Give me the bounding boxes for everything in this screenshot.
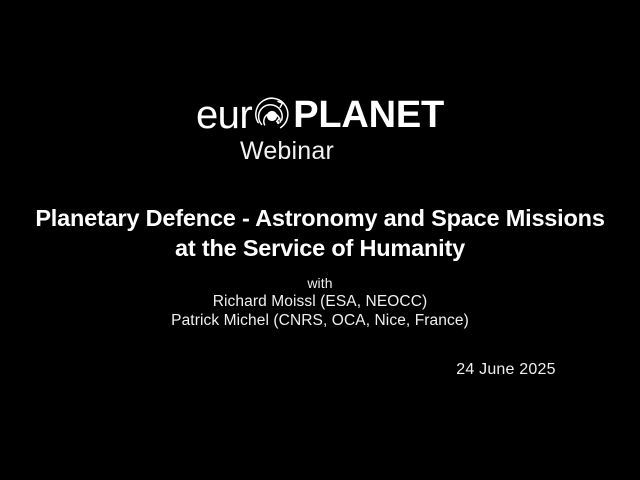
page-title-line-2: at the Service of Humanity (16, 233, 624, 263)
webinar-title-slide: eur (0, 0, 640, 480)
logo-subtitle-row: Webinar (0, 137, 640, 166)
page-title: Planetary Defence - Astronomy and Space … (0, 203, 640, 263)
presenter-name-1: Richard Moissl (ESA, NEOCC) (0, 292, 640, 311)
date-block: 24 June 2025 (0, 361, 640, 379)
europlanet-logo: eur (0, 96, 640, 166)
logo-webinar-text: Webinar (240, 137, 334, 165)
webinar-date: 24 June 2025 (456, 361, 555, 378)
logo-euro-text: eur (196, 95, 252, 135)
page-title-line-1: Planetary Defence - Astronomy and Space … (16, 203, 624, 233)
logo-wordmark: eur (196, 96, 444, 136)
presenters-intro-label: with (0, 274, 640, 292)
presenter-name-2: Patrick Michel (CNRS, OCA, Nice, France) (0, 311, 640, 330)
presenters: with Richard Moissl (ESA, NEOCC) Patrick… (0, 274, 640, 330)
europlanet-orbit-mark-icon (252, 96, 292, 136)
logo-planet-text: PLANET (293, 96, 444, 134)
